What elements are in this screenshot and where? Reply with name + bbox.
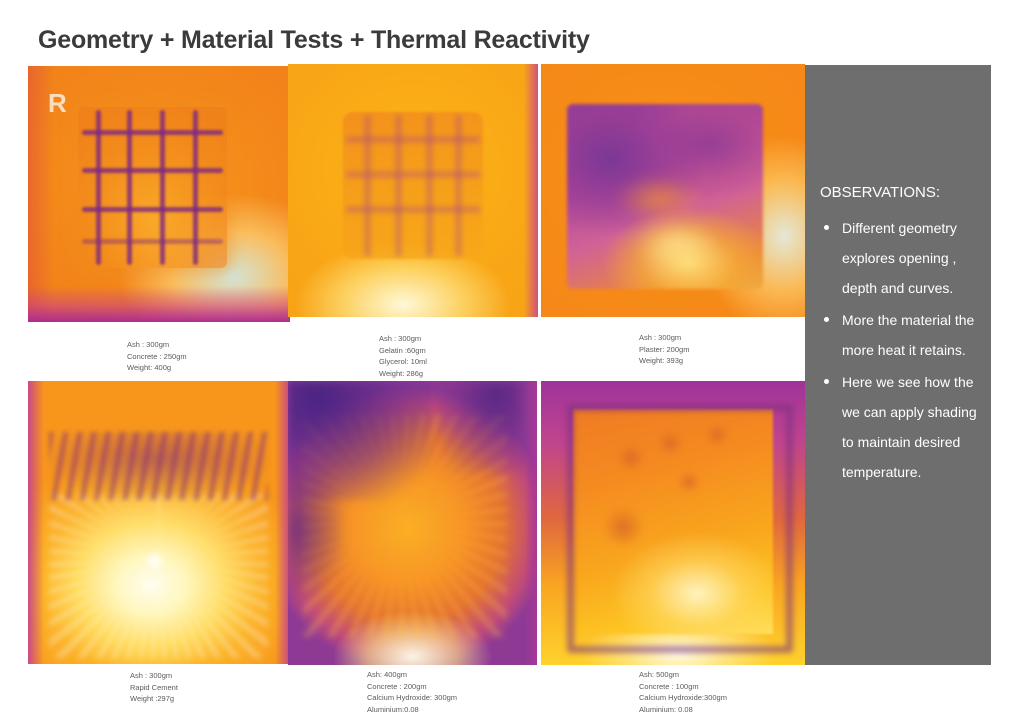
- grid-line-horizontal: [82, 168, 222, 173]
- grid-line-vertical: [127, 110, 132, 265]
- grid-line-vertical: [160, 110, 165, 265]
- thermal-edge-gradient-right: [524, 64, 538, 317]
- thermal-edge-gradient-right: [275, 381, 289, 664]
- thermal-edge-gradient-bottom: [28, 286, 290, 322]
- thermal-swirl: [634, 219, 720, 271]
- thermal-cool-corner: [437, 381, 522, 472]
- watermark-r: R: [48, 88, 68, 119]
- thermal-image-ash-concrete[interactable]: R: [28, 66, 290, 322]
- observation-item: More the material the more heat it retai…: [815, 305, 979, 365]
- page-title: Geometry + Material Tests + Thermal Reac…: [38, 26, 590, 55]
- panel-caption: Ash: 400gm Concrete : 200gm Calcium Hydr…: [367, 669, 457, 715]
- observations-panel: OBSERVATIONS: Different geometry explore…: [805, 65, 991, 665]
- thermal-cool-corner: [288, 461, 343, 597]
- observation-text: Different geometry explores opening , de…: [842, 220, 957, 296]
- grid-line-vertical: [96, 110, 101, 265]
- panel-caption: Ash : 300gm Concrete : 250gm Weight: 400…: [127, 339, 187, 374]
- observations-list: Different geometry explores opening , de…: [815, 213, 979, 487]
- thermal-cool-streaks: [49, 432, 268, 500]
- thermal-specimen-plate: [343, 112, 483, 259]
- observation-text: Here we see how the we can apply shading…: [842, 374, 977, 480]
- grid-line-vertical: [364, 115, 371, 256]
- thermal-radial-burst: [49, 494, 268, 658]
- thermal-image-ash-plaster[interactable]: [541, 64, 805, 317]
- panel-caption: Ash : 300gm Gelatin :60gm Glycerol: 10ml…: [379, 333, 427, 379]
- grid-line-horizontal: [82, 239, 222, 244]
- bullet-icon: [824, 225, 829, 230]
- panel-caption: Ash : 300gm Rapid Cement Weight :297g: [130, 670, 178, 705]
- thermal-image-ash-gelatin-glycerol[interactable]: [288, 64, 538, 317]
- grid-line-vertical: [395, 115, 402, 256]
- grid-line-vertical: [426, 115, 433, 256]
- grid-line-vertical: [455, 115, 462, 256]
- panel-caption: Ash : 300gm Plaster: 200gm Weight: 393g: [639, 332, 689, 367]
- thermal-image-ash-concrete-calcium-hydroxide-400[interactable]: [288, 381, 537, 665]
- observation-item: Here we see how the we can apply shading…: [815, 367, 979, 487]
- thermal-edge-gradient-left: [28, 381, 44, 664]
- thermal-specimen-frame: [567, 404, 792, 654]
- thermal-swirl: [614, 175, 704, 223]
- thermal-image-ash-concrete-calcium-hydroxide-500[interactable]: [541, 381, 805, 665]
- panel-caption: Ash: 500gm Concrete : 100gm Calcium Hydr…: [639, 669, 727, 715]
- grid-line-horizontal: [82, 207, 222, 212]
- observation-item: Different geometry explores opening , de…: [815, 213, 979, 303]
- thermal-specimen-plate: [567, 104, 762, 289]
- thermal-image-ash-rapid-cement[interactable]: [28, 381, 289, 664]
- bullet-icon: [824, 379, 829, 384]
- observation-text: More the material the more heat it retai…: [842, 312, 974, 358]
- bullet-icon: [824, 317, 829, 322]
- observations-title: OBSERVATIONS:: [815, 183, 979, 203]
- grid-line-vertical: [193, 110, 198, 265]
- thermal-specimen-plate: [78, 107, 227, 268]
- grid-line-horizontal: [82, 130, 222, 135]
- thermal-edge-gradient-right: [525, 381, 537, 665]
- thermal-hotspot: [143, 551, 166, 571]
